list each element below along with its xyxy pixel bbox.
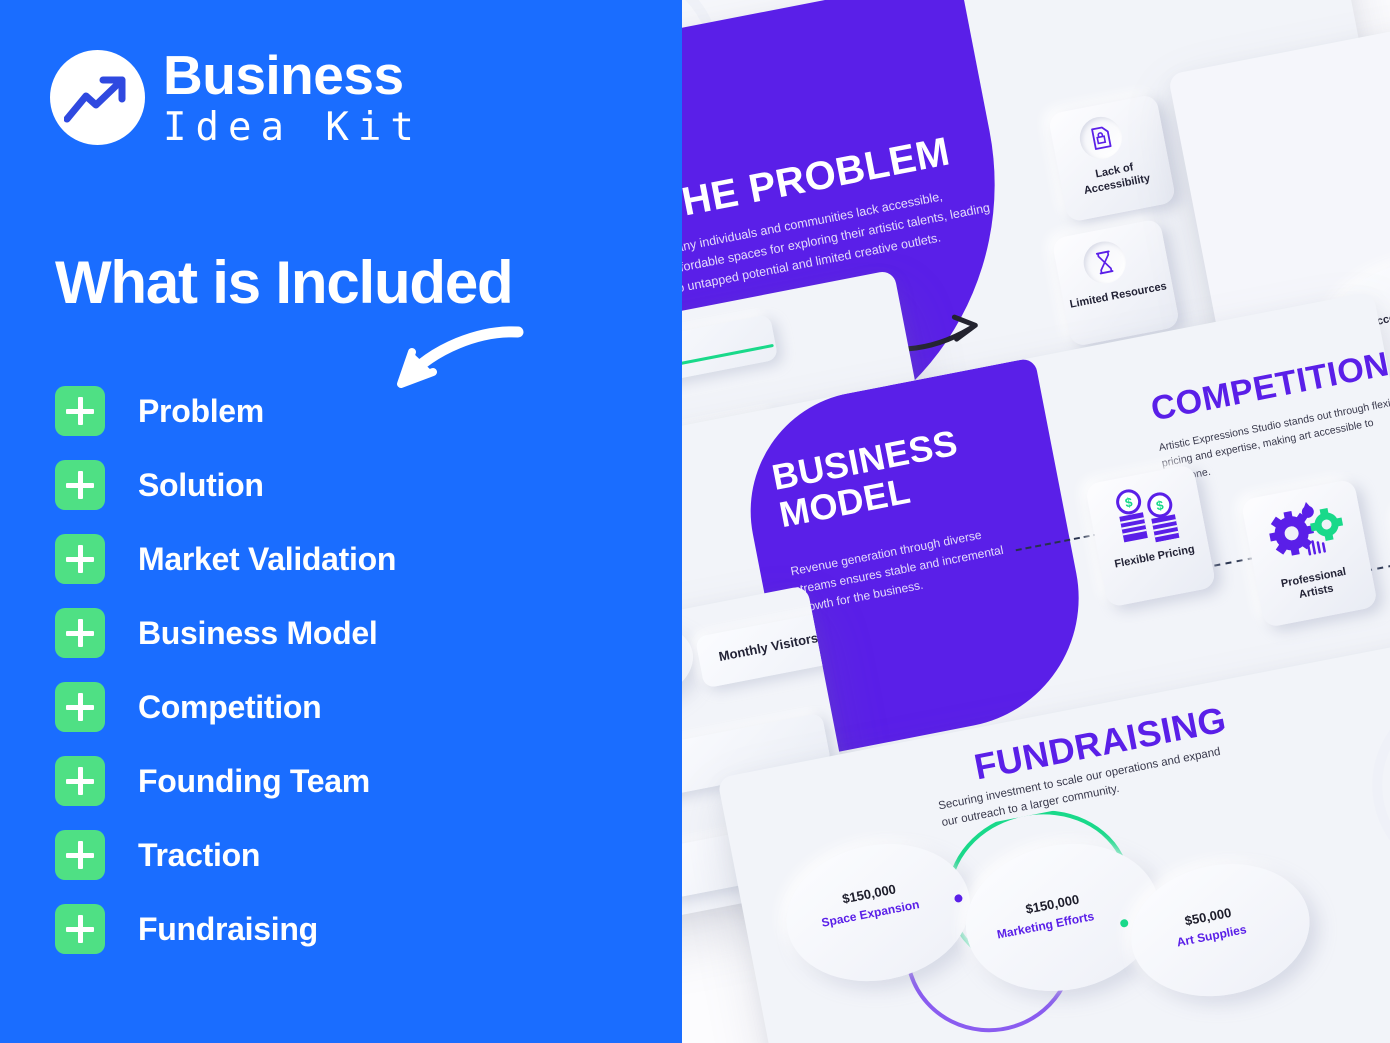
feature-label: Competition — [138, 689, 321, 726]
locked-document-icon — [1076, 113, 1125, 162]
feature-label: Solution — [138, 467, 264, 504]
plus-icon — [55, 460, 105, 510]
plus-icon — [55, 608, 105, 658]
plus-icon — [55, 904, 105, 954]
included-features-list: Problem Solution Market Validation Busin… — [55, 386, 615, 978]
list-item[interactable]: Fundraising — [55, 904, 615, 954]
slides-preview-area: THE PROBLEM Many individuals and communi… — [600, 0, 1390, 1043]
list-item[interactable]: Market Validation — [55, 534, 615, 584]
hourglass-icon — [1080, 238, 1129, 287]
problem-tile-label: Limited Resources — [1068, 280, 1169, 313]
brand-title: Business — [163, 48, 423, 103]
competition-tile-label: Professional Artists — [1263, 563, 1366, 609]
brand-text: Business Idea Kit — [163, 48, 423, 147]
brand-lockup: Business Idea Kit — [50, 48, 423, 147]
left-info-panel: Business Idea Kit What is Included Probl… — [0, 0, 682, 1043]
plus-icon — [55, 682, 105, 732]
feature-label: Problem — [138, 393, 264, 430]
problem-tile-label: Lack of Accessibility — [1064, 155, 1167, 201]
page-title: What is Included — [55, 248, 513, 317]
competition-tile-professional-artists[interactable]: Professional Artists — [1240, 479, 1378, 629]
plus-icon — [55, 756, 105, 806]
feature-label: Market Validation — [138, 541, 396, 578]
feature-label: Fundraising — [138, 911, 318, 948]
poster-canvas: THE PROBLEM Many individuals and communi… — [0, 0, 1390, 1043]
feature-label: Traction — [138, 837, 260, 874]
plus-icon — [55, 386, 105, 436]
feature-label: Founding Team — [138, 763, 370, 800]
feature-label: Business Model — [138, 615, 377, 652]
plus-icon — [55, 534, 105, 584]
problem-tile-limited-resources[interactable]: Limited Resources — [1051, 218, 1180, 347]
problem-tile-accessibility[interactable]: Lack of Accessibility — [1047, 94, 1176, 223]
fundraising-decorative-ring — [1356, 674, 1390, 897]
list-item[interactable]: Problem — [55, 386, 615, 436]
money-bars-icon: $ $ — [1105, 479, 1191, 550]
list-item[interactable]: Business Model — [55, 608, 615, 658]
competition-tile-flexible-pricing[interactable]: $ $ Flexible Pricing — [1085, 464, 1217, 608]
list-item[interactable]: Competition — [55, 682, 615, 732]
list-item[interactable]: Founding Team — [55, 756, 615, 806]
list-item[interactable]: Traction — [55, 830, 615, 880]
competition-connector-2 — [1214, 557, 1254, 567]
plus-icon — [55, 830, 105, 880]
brand-logo-mark — [50, 50, 145, 145]
brand-subtitle: Idea Kit — [163, 108, 423, 147]
list-item[interactable]: Solution — [55, 460, 615, 510]
gears-icon — [1256, 491, 1352, 568]
trend-up-arrow-icon — [64, 69, 132, 127]
